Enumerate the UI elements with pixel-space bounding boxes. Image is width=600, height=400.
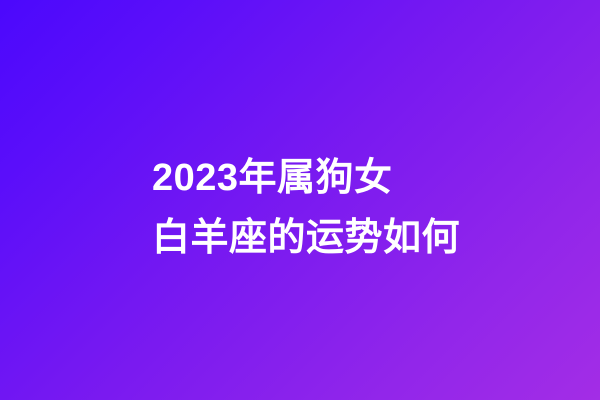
banner-title-line-1: 2023年属狗女 [152, 148, 393, 208]
banner-title-block: 2023年属狗女 白羊座的运势如何 [152, 148, 482, 268]
promo-banner: 2023年属狗女 白羊座的运势如何 [0, 0, 600, 400]
banner-title-line-2: 白羊座的运势如何 [152, 208, 460, 268]
